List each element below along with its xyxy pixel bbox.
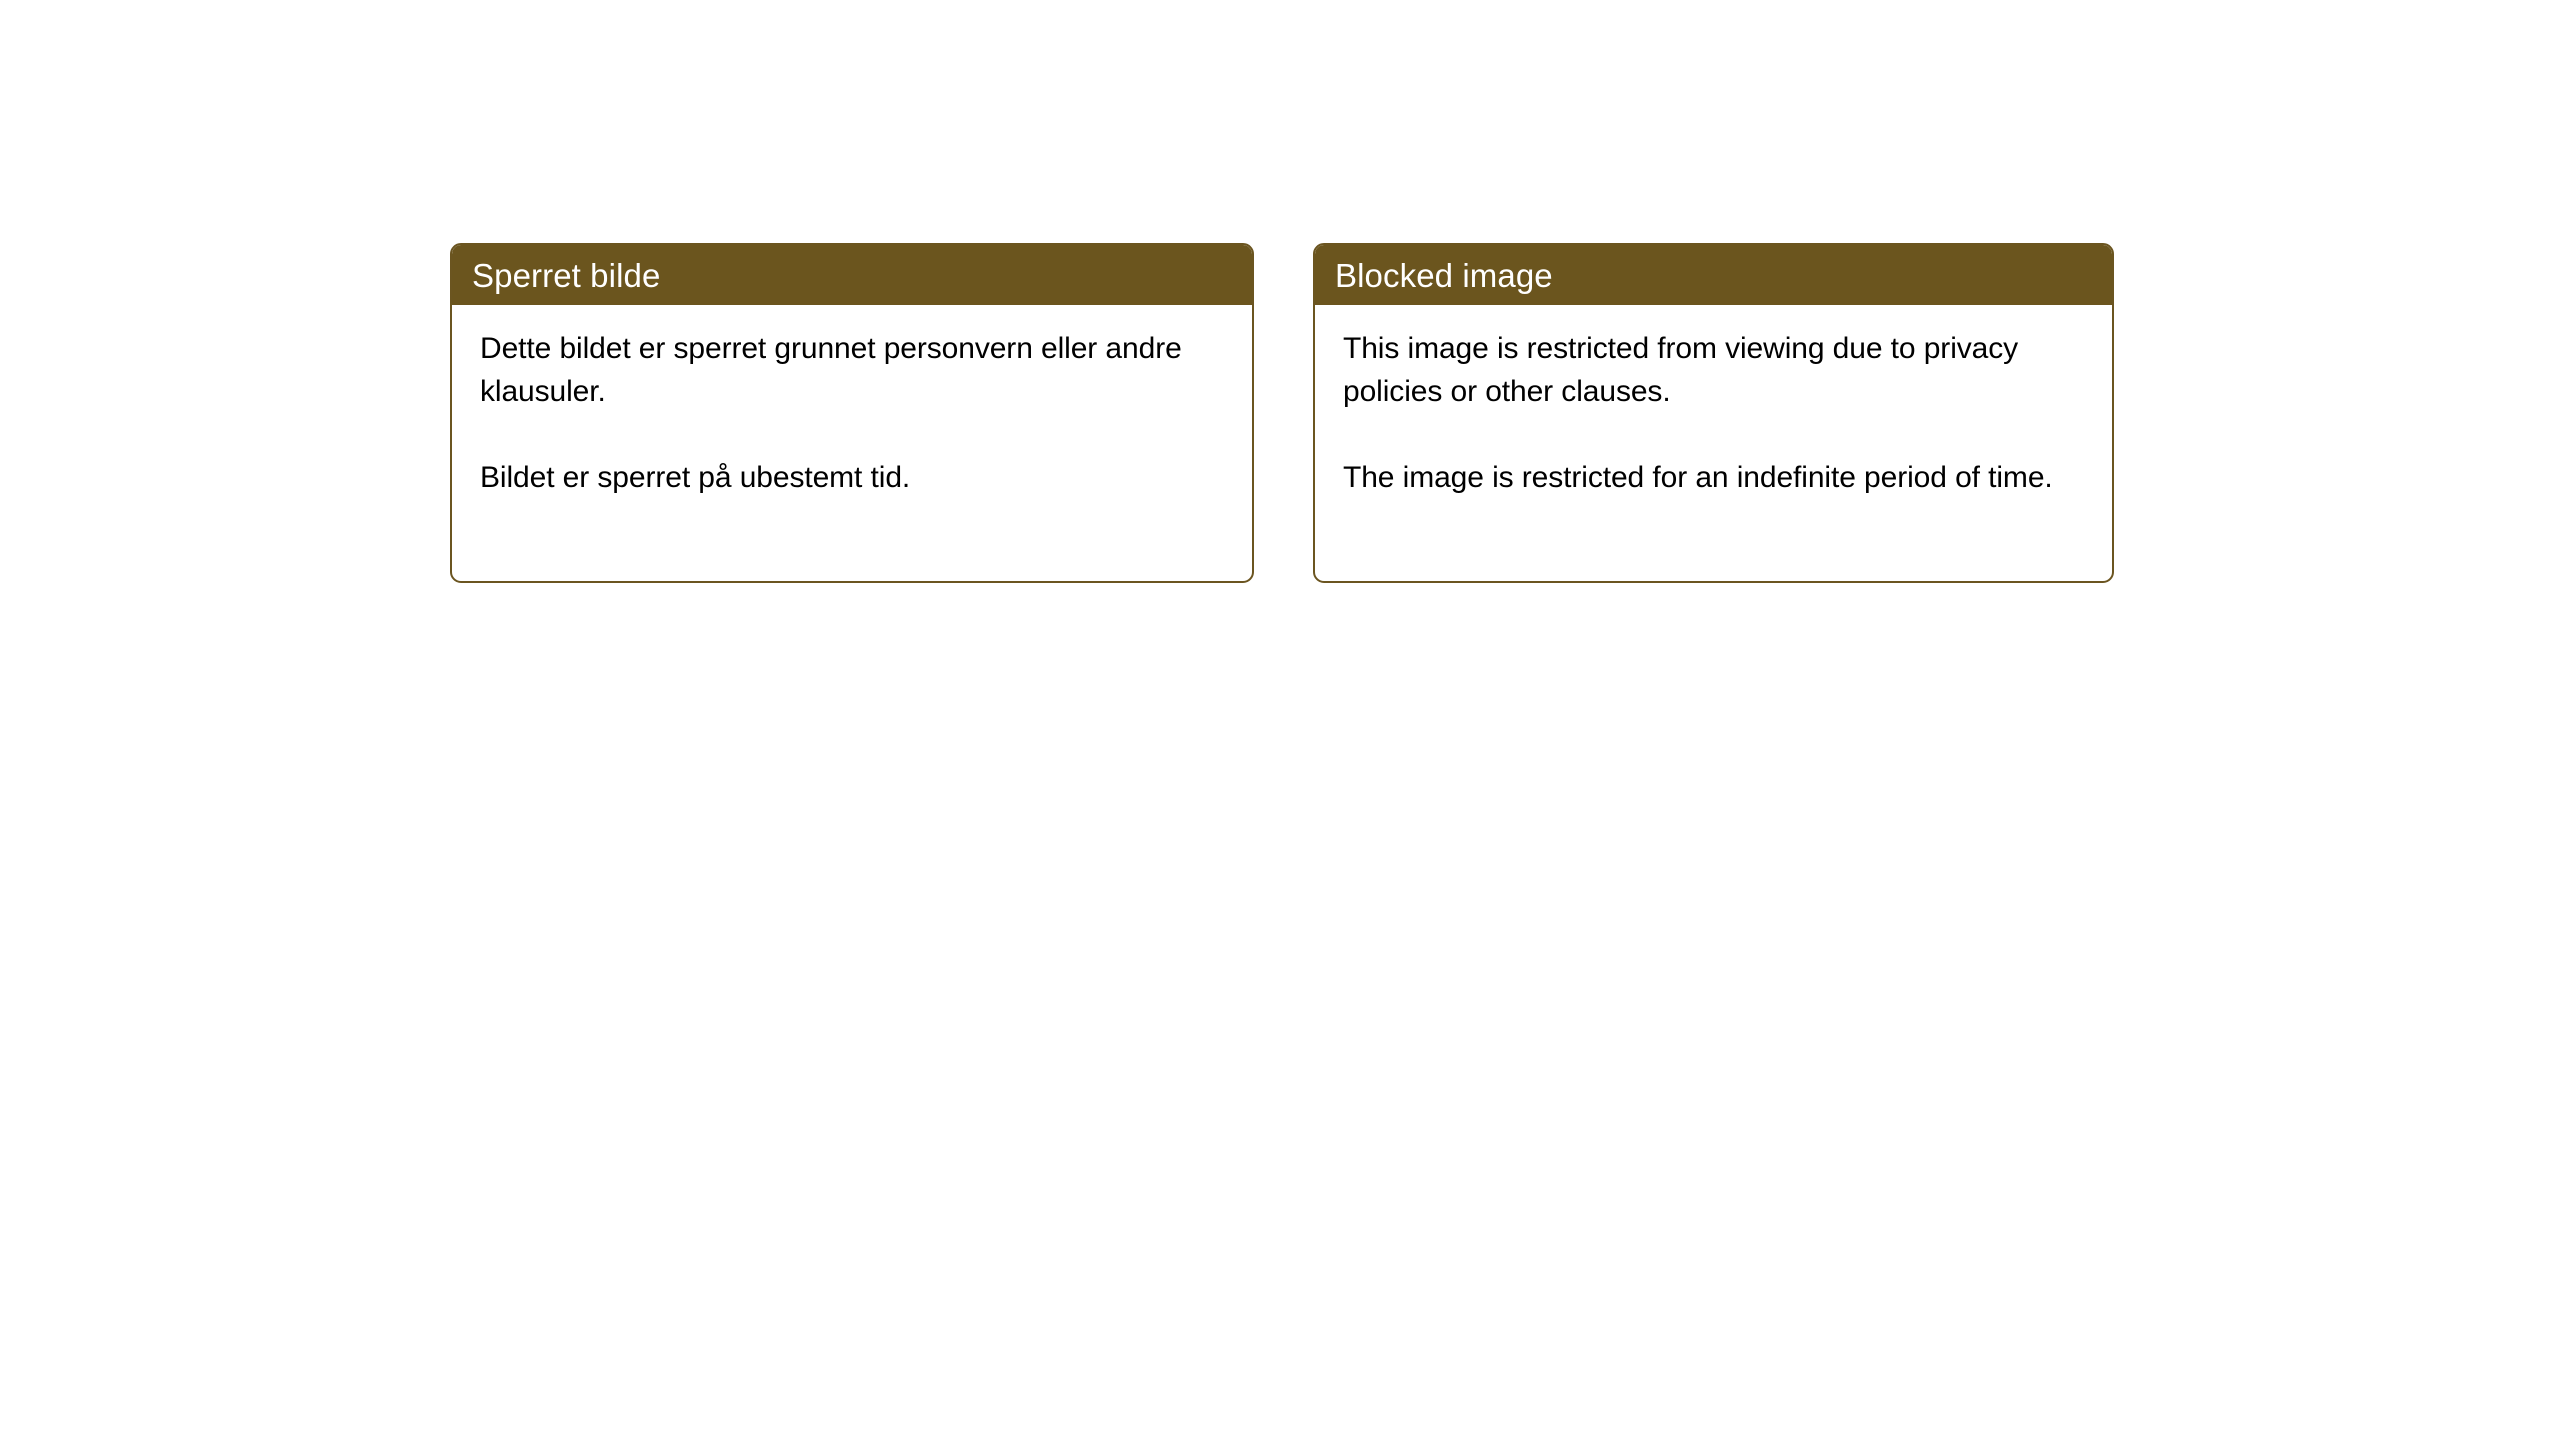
card-paragraph-reason-norwegian: Dette bildet er sperret grunnet personve… <box>480 327 1228 413</box>
card-header-norwegian: Sperret bilde <box>452 245 1252 305</box>
card-header-english: Blocked image <box>1315 245 2112 305</box>
card-paragraph-duration-norwegian: Bildet er sperret på ubestemt tid. <box>480 456 1228 499</box>
card-title-norwegian: Sperret bilde <box>472 259 660 292</box>
card-paragraph-reason-english: This image is restricted from viewing du… <box>1343 327 2088 413</box>
card-paragraph-duration-english: The image is restricted for an indefinit… <box>1343 456 2088 499</box>
page-canvas: Sperret bilde Dette bildet er sperret gr… <box>0 0 2560 1440</box>
card-body-english: This image is restricted from viewing du… <box>1315 305 2112 499</box>
blocked-image-card-norwegian: Sperret bilde Dette bildet er sperret gr… <box>450 243 1254 583</box>
card-title-english: Blocked image <box>1335 259 1553 292</box>
paragraph-spacer <box>480 413 1228 456</box>
blocked-image-card-english: Blocked image This image is restricted f… <box>1313 243 2114 583</box>
paragraph-spacer <box>1343 413 2088 456</box>
card-body-norwegian: Dette bildet er sperret grunnet personve… <box>452 305 1252 499</box>
